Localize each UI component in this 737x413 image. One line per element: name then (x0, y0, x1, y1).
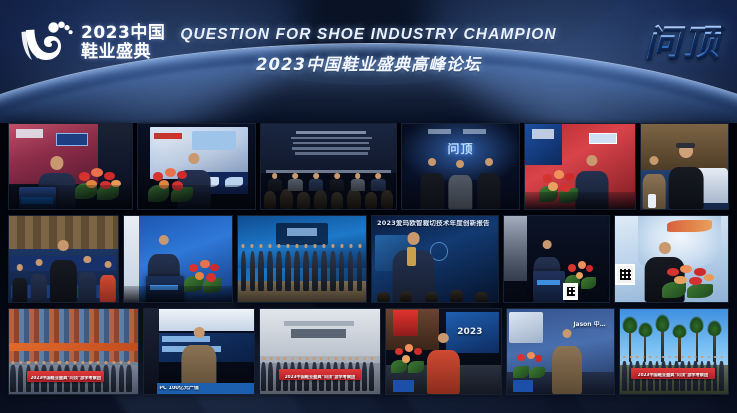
photo-caption: PC 100亿元产值 (159, 386, 251, 392)
gallery-photo[interactable] (123, 215, 233, 302)
photo-caption: 2023爱玛欧智裁切技术年度创新报告 (377, 220, 493, 227)
gallery-photo[interactable]: PC 100亿元产值 (143, 308, 255, 395)
gallery-row: 主持人 嘉宾 问顶 (8, 123, 729, 210)
shoe-swoosh-logo-icon (20, 18, 74, 68)
brand-left-line1: 2023中国 (81, 25, 165, 42)
gallery-row: 2023中国鞋业盛典"问顶"游学考察团 PC 100亿元产值 (8, 308, 729, 395)
gallery-photo[interactable] (524, 123, 636, 210)
brand-left-text: 2023中国 鞋业盛典 (81, 25, 165, 62)
photo-caption: 2023中国鞋业盛典"问顶"游学考察团 (28, 376, 103, 381)
gallery-photo[interactable]: 2023 (385, 308, 502, 395)
event-recap-poster: 2023中国 鞋业盛典 QUESTION FOR SHOE INDUSTRY C… (0, 0, 737, 413)
photo-caption: Jason 中国区 (573, 321, 610, 329)
brand-left-line2: 鞋业盛典 (81, 44, 151, 61)
brand-left: 2023中国 鞋业盛典 (20, 15, 165, 71)
gallery-photo[interactable] (8, 123, 133, 210)
gallery-photo[interactable]: Jason 中国区 (506, 308, 615, 395)
header-banner: 2023中国 鞋业盛典 QUESTION FOR SHOE INDUSTRY C… (0, 0, 737, 123)
gallery-photo[interactable]: 2023中国鞋业盛典"问顶"游学考察团 (259, 308, 381, 395)
gallery-photo[interactable] (503, 215, 610, 302)
gallery-row: 2023爱玛欧智裁切技术年度创新报告 (8, 215, 729, 302)
photo-caption: 2023中国鞋业盛典"问顶"游学考察团 (632, 373, 714, 378)
photo-caption: 问顶 (406, 143, 516, 157)
photo-caption: 2023 (457, 327, 497, 337)
gallery-photo[interactable]: 2023中国鞋业盛典"问顶"游学考察团 (8, 308, 139, 395)
gallery-photo[interactable]: 2023爱玛欧智裁切技术年度创新报告 (371, 215, 499, 302)
gallery-photo[interactable]: 问顶 (401, 123, 520, 210)
gallery-photo[interactable] (137, 123, 256, 210)
gallery-photo[interactable] (237, 215, 367, 302)
gallery-photo[interactable]: 2023中国鞋业盛典"问顶"游学考察团 (619, 308, 729, 395)
gallery-photo[interactable]: 主持人 嘉宾 (260, 123, 397, 210)
gallery-photo[interactable] (614, 215, 729, 302)
brand-right-logo: 问顶 (645, 14, 721, 66)
gallery-photo[interactable] (640, 123, 729, 210)
photo-gallery-grid: 主持人 嘉宾 问顶 (8, 123, 729, 395)
photo-caption: 2023中国鞋业盛典"问顶"游学考察团 (280, 375, 359, 380)
gallery-photo[interactable] (8, 215, 119, 302)
